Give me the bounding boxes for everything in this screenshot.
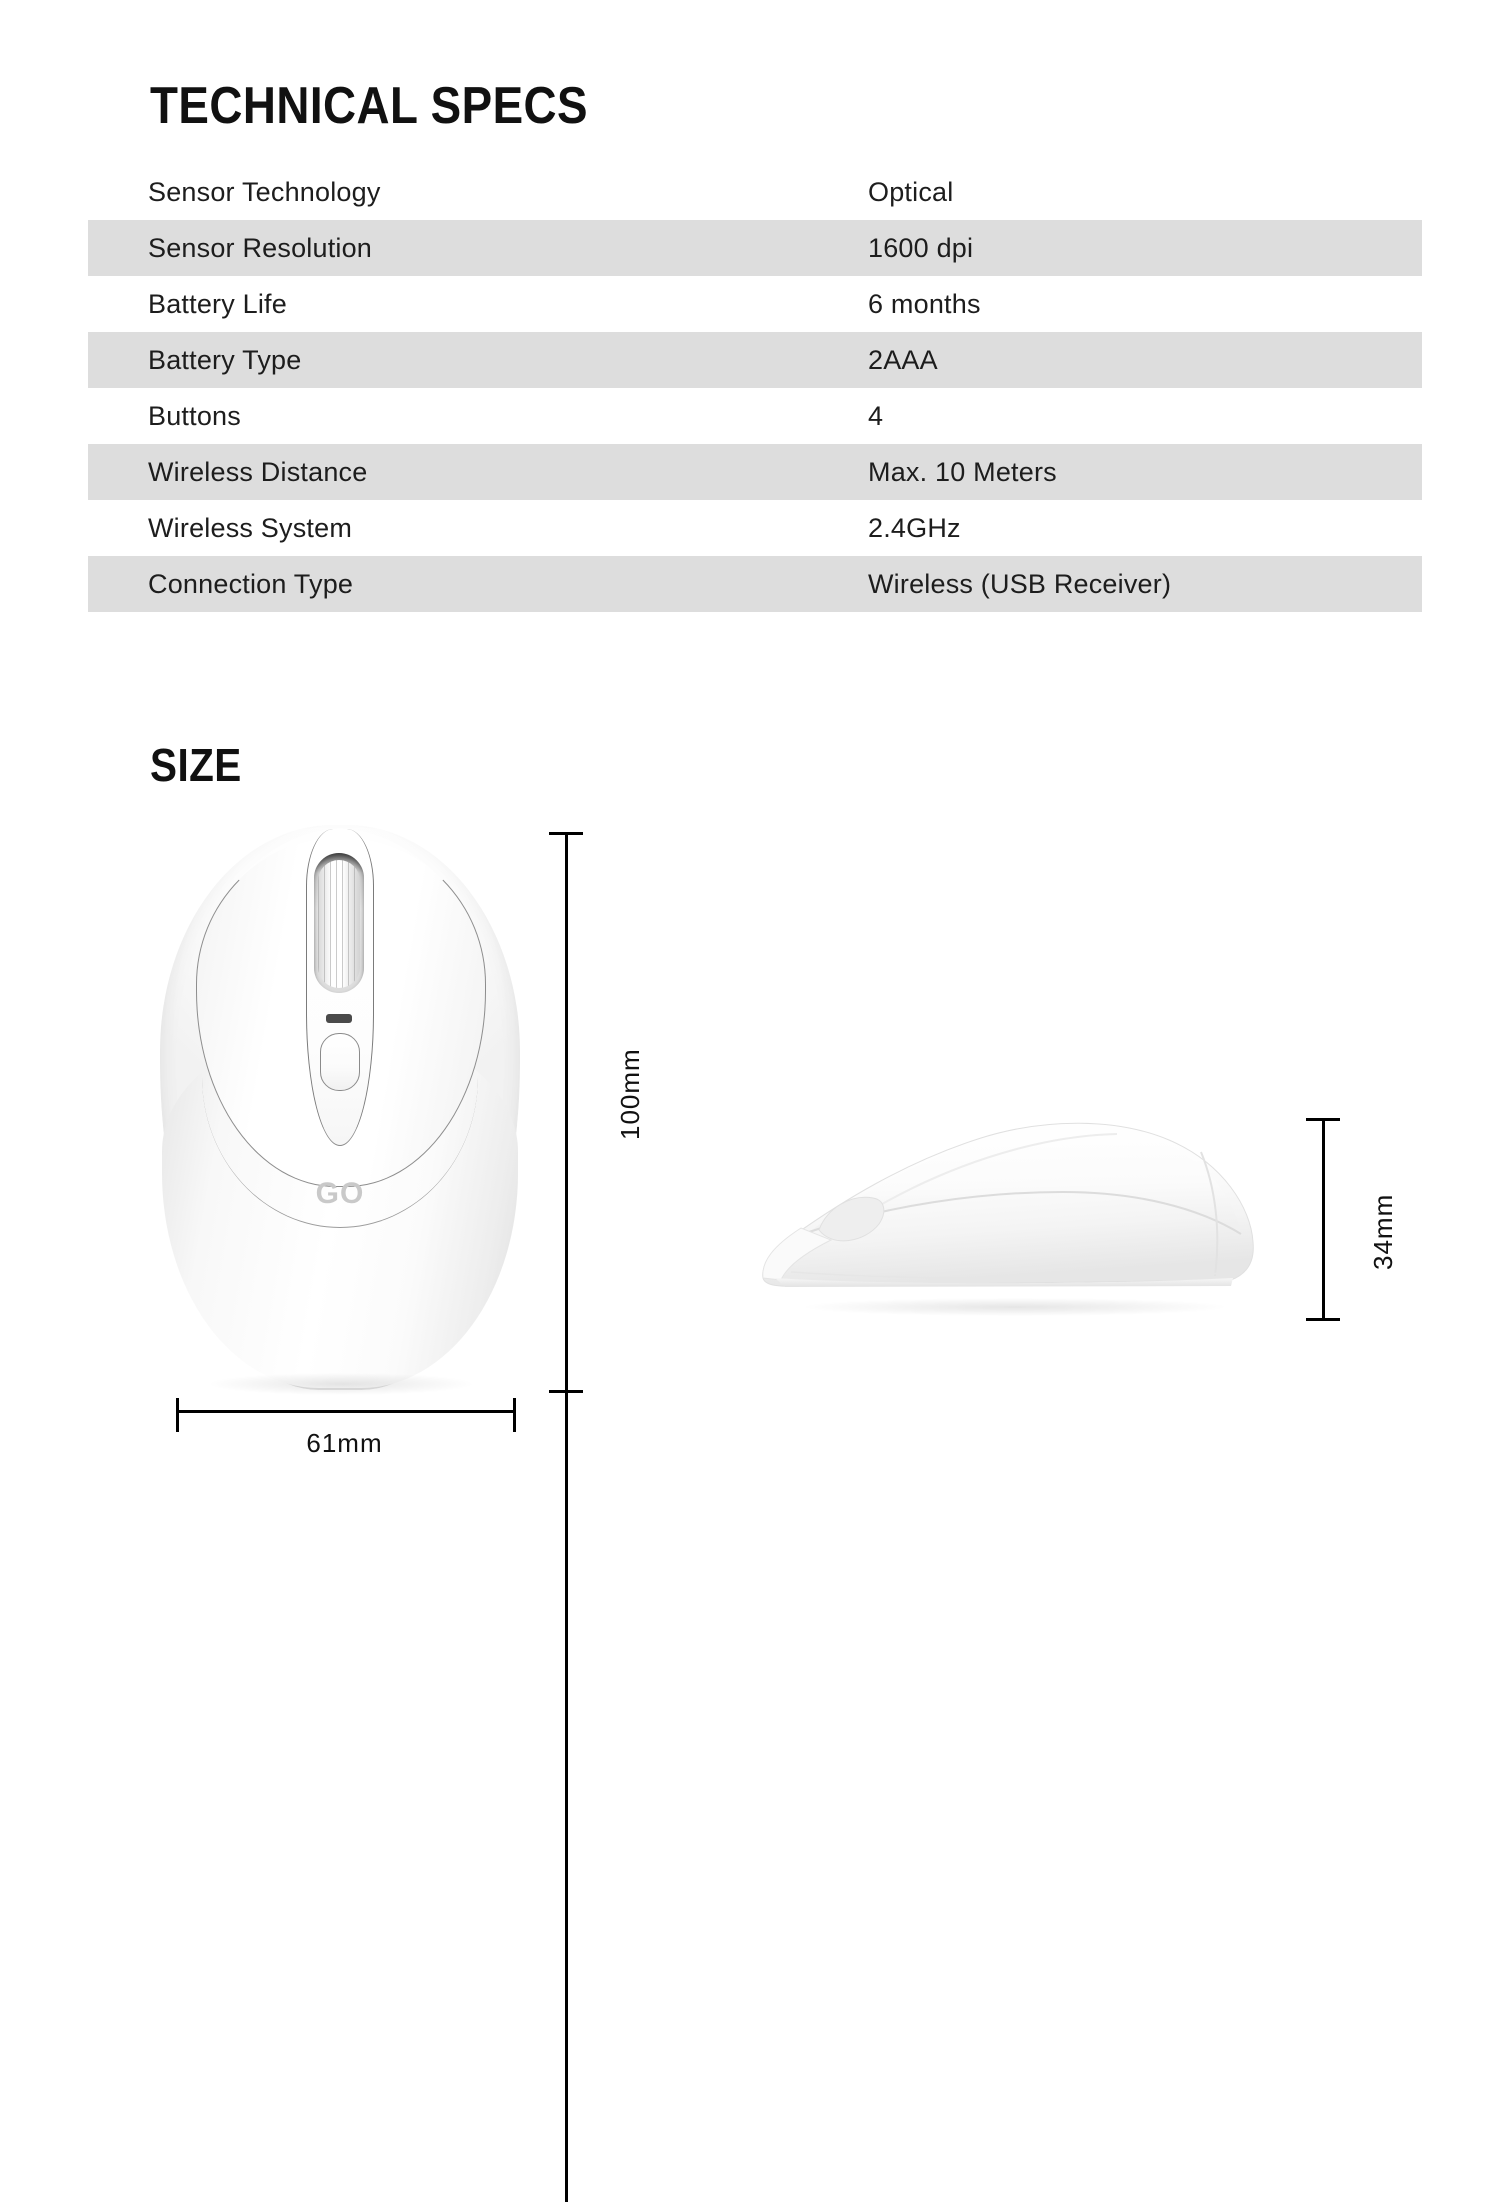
spec-value: Max. 10 Meters — [868, 457, 1057, 488]
spec-row: Wireless DistanceMax. 10 Meters — [88, 444, 1422, 500]
section-title-size: SIZE — [150, 740, 242, 790]
dimension-label-61mm: 61mm — [176, 1428, 513, 1459]
spec-row: Wireless System2.4GHz — [88, 500, 1422, 556]
dpi-indicator-led — [326, 1014, 352, 1023]
size-figure: GO — [0, 810, 1500, 1500]
spec-value: Wireless (USB Receiver) — [868, 569, 1171, 600]
mouse-side-shadow — [805, 1298, 1225, 1316]
dimension-tick-bottom-100mm — [549, 1390, 583, 1393]
spec-label: Wireless System — [148, 513, 352, 544]
mouse-top-shadow — [210, 1373, 472, 1395]
dimension-tick-left-61mm — [176, 1398, 179, 1432]
spec-row: Buttons4 — [88, 388, 1422, 444]
spec-value: Optical — [868, 177, 953, 208]
spec-label: Connection Type — [148, 569, 353, 600]
scroll-wheel — [318, 860, 360, 988]
mouse-top-view-image: GO — [160, 825, 520, 1390]
mouse-side-view-image — [745, 1090, 1285, 1320]
spec-label: Battery Life — [148, 289, 287, 320]
spec-row: Connection TypeWireless (USB Receiver) — [88, 556, 1422, 612]
dimension-tick-top-100mm — [549, 832, 583, 835]
dimension-tick-top-34mm — [1306, 1118, 1340, 1121]
dimension-tick-right-61mm — [513, 1398, 516, 1432]
dimension-label-34mm: 34mm — [1368, 1194, 1399, 1270]
spec-row: Sensor TechnologyOptical — [88, 164, 1422, 220]
spec-row: Sensor Resolution1600 dpi — [88, 220, 1422, 276]
dimension-line-height-34mm — [1322, 1118, 1325, 1318]
spec-row: Battery Life6 months — [88, 276, 1422, 332]
spec-label: Sensor Resolution — [148, 233, 372, 264]
dimension-line-height-100mm — [565, 832, 568, 2202]
scroll-wheel-slot — [314, 853, 364, 993]
spec-label: Battery Type — [148, 345, 301, 376]
page-title-technical-specs: TECHNICAL SPECS — [150, 78, 588, 134]
spec-label: Sensor Technology — [148, 177, 381, 208]
dimension-label-100mm: 100mm — [615, 1048, 646, 1140]
spec-value: 2.4GHz — [868, 513, 961, 544]
dimension-tick-bottom-34mm — [1306, 1318, 1340, 1321]
mouse-side-profile-svg — [745, 1090, 1285, 1320]
brand-logo-go: GO — [160, 1177, 520, 1211]
spec-value: 1600 dpi — [868, 233, 973, 264]
spec-value: 4 — [868, 401, 883, 432]
dimension-line-width-61mm — [176, 1410, 513, 1413]
spec-label: Buttons — [148, 401, 241, 432]
spec-value: 6 months — [868, 289, 981, 320]
spec-label: Wireless Distance — [148, 457, 367, 488]
spec-row: Battery Type2AAA — [88, 332, 1422, 388]
spec-value: 2AAA — [868, 345, 938, 376]
specs-table: Sensor TechnologyOpticalSensor Resolutio… — [88, 164, 1422, 612]
